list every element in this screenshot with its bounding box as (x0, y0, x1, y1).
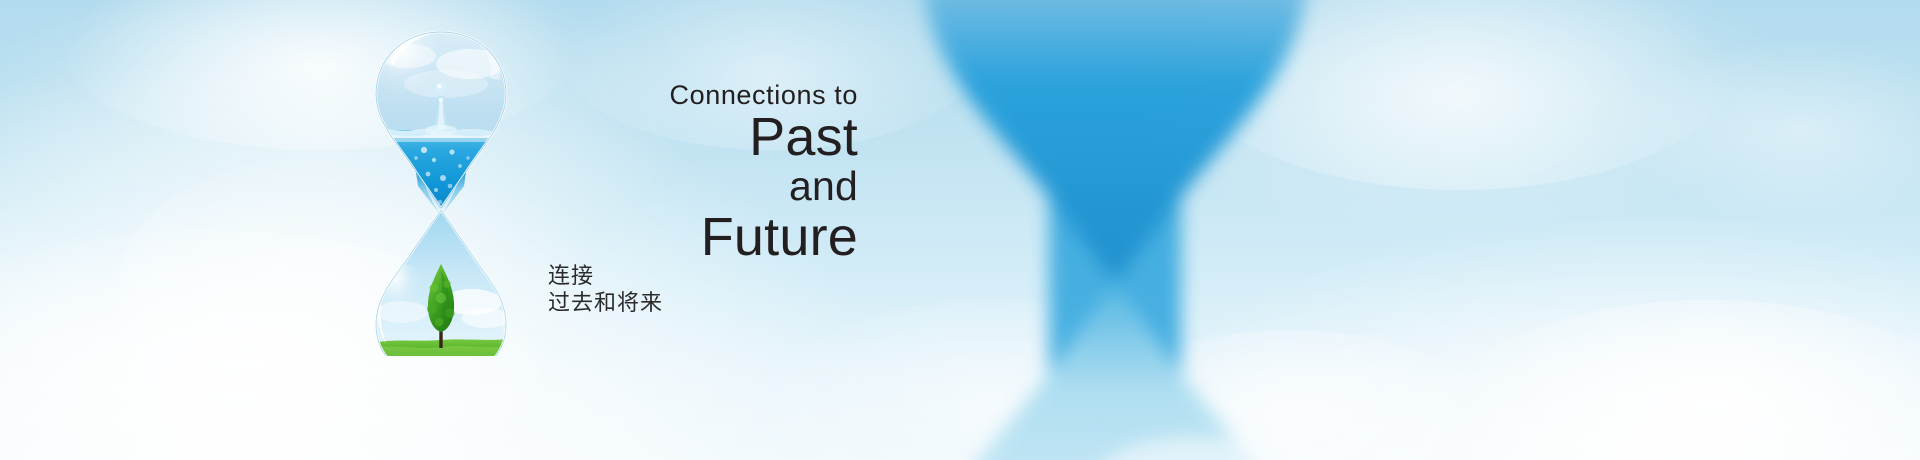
headline-block: Connections to Past and Future 连接 过去和将来 (548, 80, 858, 317)
hourglass-bottom-bulb (368, 206, 514, 356)
headline-word-future: Future (548, 209, 858, 265)
hero-banner: Connections to Past and Future 连接 过去和将来 (0, 0, 1920, 460)
cloud-top-right (1180, 0, 1740, 190)
subtitle-chinese-block: 连接 过去和将来 (548, 263, 858, 317)
cloud-bottom-right (1430, 300, 1920, 460)
headline-word-past: Past (548, 111, 858, 163)
blurred-hourglass-backdrop-icon (905, 0, 1325, 460)
subtitle-chinese-line-1: 连接 (548, 263, 858, 290)
headline-word-and: and (548, 163, 858, 209)
subtitle-chinese-line-2: 过去和将来 (548, 290, 858, 317)
cloud-mid-left (120, 150, 600, 400)
cloud-bottom-center (760, 300, 1220, 460)
water-hourglass-icon (368, 26, 514, 356)
cloud-lower-center (1080, 330, 1500, 460)
cloud-far-right (1620, 40, 1920, 220)
